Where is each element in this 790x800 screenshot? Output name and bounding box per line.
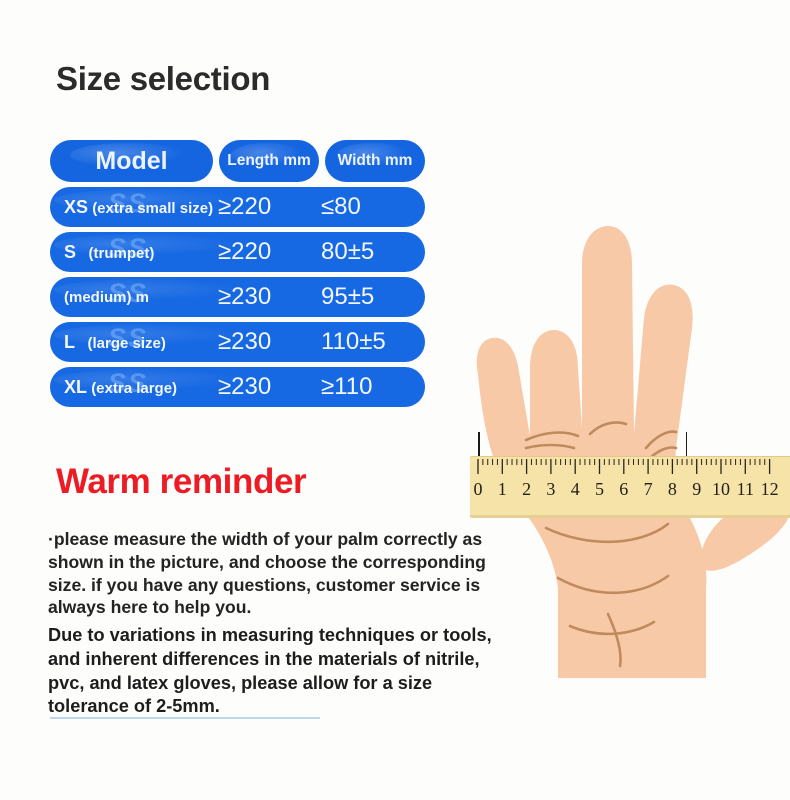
ruler-label-5: 5 xyxy=(595,479,604,500)
column-header-width-label: Width mm xyxy=(338,152,413,170)
table-row: SS S (trumpet) ≥220 80±5 xyxy=(50,232,425,272)
bracket-tick-left xyxy=(478,432,480,458)
size-table: Model Length mm Width mm SS XS (extra sm… xyxy=(50,140,425,412)
cell-model: (medium) m xyxy=(50,289,218,306)
ruler-label-0: 0 xyxy=(474,479,483,500)
warm-reminder-heading: Warm reminder xyxy=(56,462,306,502)
size-table-header: Model Length mm Width mm xyxy=(50,140,425,182)
cell-width: ≤80 xyxy=(321,193,421,221)
column-header-length: Length mm xyxy=(219,140,319,182)
ruler-label-6: 6 xyxy=(619,479,628,500)
cell-size-desc: (medium) m xyxy=(64,289,149,306)
cell-length: ≥220 xyxy=(218,238,321,266)
cell-width: 95±5 xyxy=(321,283,421,311)
ruler-label-7: 7 xyxy=(644,479,653,500)
cell-model: L (large size) xyxy=(50,332,218,353)
cell-model: S (trumpet) xyxy=(50,242,218,263)
cell-size-code: XL xyxy=(64,377,87,397)
cell-size-desc: (large size) xyxy=(88,335,166,352)
cell-width: 80±5 xyxy=(321,238,421,266)
cell-length: ≥230 xyxy=(218,328,321,356)
reminder-note-one: ·please measure the width of your palm c… xyxy=(48,528,500,619)
cell-size-code: XS xyxy=(64,197,88,217)
cell-model: XL (extra large) xyxy=(50,377,218,398)
ruler-number-labels: 0123456789101112 xyxy=(470,479,790,503)
table-row: SS XL (extra large) ≥230 ≥110 xyxy=(50,367,425,407)
table-row: SS L (large size) ≥230 110±5 xyxy=(50,322,425,362)
page-title: Size selection xyxy=(56,60,270,98)
cell-size-code: L xyxy=(64,332,75,352)
cell-size-code: S xyxy=(64,242,76,262)
ruler-label-11: 11 xyxy=(737,479,754,500)
cell-length: ≥230 xyxy=(218,373,321,401)
cell-size-desc: (extra small size) xyxy=(92,200,213,217)
cell-width: 110±5 xyxy=(321,328,421,356)
cell-length: ≥230 xyxy=(218,283,321,311)
column-header-width: Width mm xyxy=(325,140,425,182)
reminder-note-two: Due to variations in measuring technique… xyxy=(48,624,504,719)
column-header-model: Model xyxy=(50,140,213,182)
table-row: SS (medium) m ≥230 95±5 xyxy=(50,277,425,317)
ruler-label-12: 12 xyxy=(761,479,779,500)
ruler-label-3: 3 xyxy=(546,479,555,500)
bracket-tick-right xyxy=(686,432,688,458)
ruler-label-9: 9 xyxy=(692,479,701,500)
column-header-length-label: Length mm xyxy=(227,152,311,170)
ruler-label-8: 8 xyxy=(668,479,677,500)
palm-width-measure-bracket xyxy=(478,432,687,458)
cell-model: XS (extra small size) xyxy=(50,197,218,218)
column-header-model-label: Model xyxy=(95,147,167,176)
ruler-label-2: 2 xyxy=(522,479,531,500)
cell-length: ≥220 xyxy=(218,193,321,221)
cell-size-desc: (trumpet) xyxy=(89,245,155,262)
ruler-label-4: 4 xyxy=(571,479,580,500)
ruler-label-10: 10 xyxy=(712,479,730,500)
cell-width: ≥110 xyxy=(321,373,421,401)
cell-size-desc: (extra large) xyxy=(91,380,177,397)
ruler: 0123456789101112 xyxy=(470,456,790,518)
ruler-label-1: 1 xyxy=(498,479,507,500)
table-row: SS XS (extra small size) ≥220 ≤80 xyxy=(50,187,425,227)
